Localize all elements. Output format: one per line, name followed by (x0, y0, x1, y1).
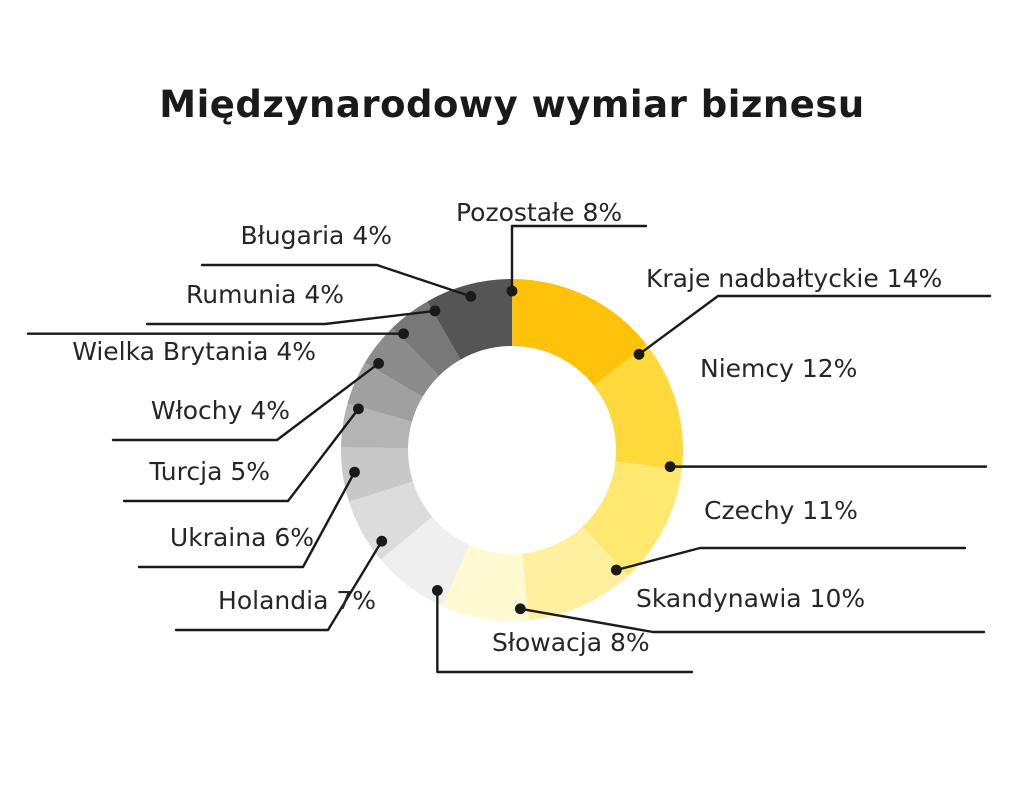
leader-line (147, 311, 435, 324)
callout-czechy: Czechy 11% (704, 498, 858, 523)
leader-dot (432, 585, 443, 596)
leader-dot (349, 467, 360, 478)
leader-line (639, 296, 990, 354)
chart-canvas: Międzynarodowy wymiar biznesu Kraje nadb… (0, 0, 1024, 812)
leader-dot (634, 349, 645, 360)
leader-dot (430, 306, 441, 317)
callout-ukraina: Ukraina 6% (0, 525, 314, 550)
callout-kraje-nadbaltyckie: Kraje nadbałtyckie 14% (646, 266, 942, 291)
leader-dot (507, 286, 518, 297)
leader-dot (373, 358, 384, 369)
callout-holandia: Holandia 7% (0, 588, 376, 613)
callout-turcja: Turcja 5% (0, 459, 270, 484)
callout-niemcy: Niemcy 12% (700, 356, 857, 381)
callout-pozostale: Pozostałe 8% (456, 200, 622, 225)
leader-dot (398, 328, 409, 339)
donut-slices (341, 279, 683, 621)
leader-line (139, 472, 355, 567)
callout-skandynawia: Skandynawia 10% (636, 586, 865, 611)
leader-dot (465, 291, 476, 302)
leader-dot (515, 603, 526, 614)
leader-dot (665, 461, 676, 472)
callout-slowacja: Słowacja 8% (492, 630, 650, 655)
callout-rumunia: Rumunia 4% (0, 282, 344, 307)
leader-line (616, 548, 965, 570)
leader-dot (353, 403, 364, 414)
callout-blugaria: Bługaria 4% (0, 223, 392, 248)
callout-wielka-brytania: Wielka Brytania 4% (0, 339, 316, 364)
leader-dot (611, 565, 622, 576)
leader-dot (376, 536, 387, 547)
callout-wlochy: Włochy 4% (0, 398, 290, 423)
